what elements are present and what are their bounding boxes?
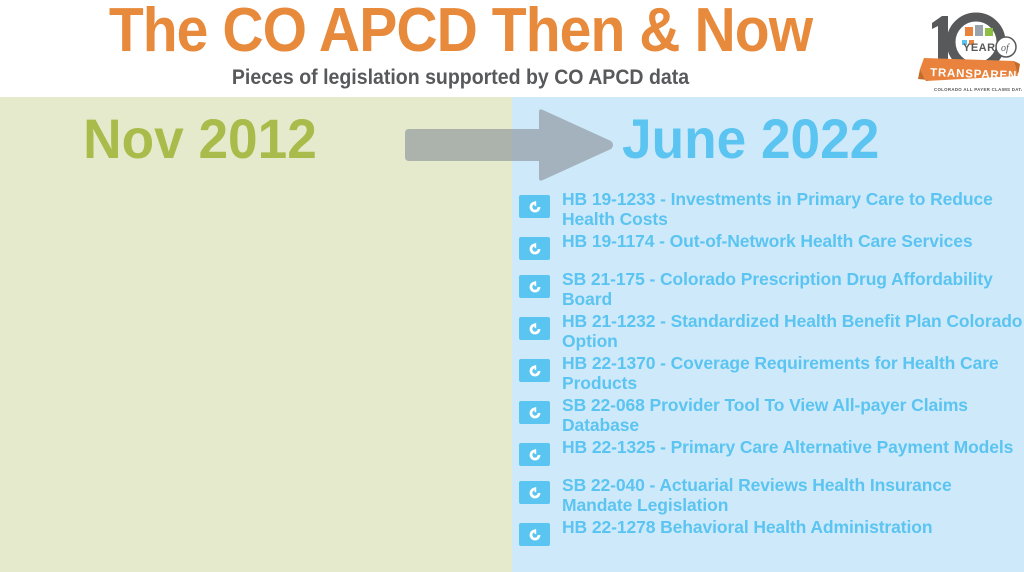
page-title: The CO APCD Then & Now xyxy=(44,0,877,64)
c-glyph-icon xyxy=(528,486,541,499)
co-apcd-logo-icon xyxy=(519,359,550,382)
co-apcd-logo-icon xyxy=(519,275,550,298)
co-apcd-logo-icon xyxy=(519,481,550,504)
list-item: SB 22-068 Provider Tool To View All-paye… xyxy=(519,396,1024,435)
svg-text:TRANSPARENCY: TRANSPARENCY xyxy=(930,67,1022,83)
legislation-item-text: SB 21-175 - Colorado Prescription Drug A… xyxy=(562,270,1024,309)
legislation-item-text: SB 22-068 Provider Tool To View All-paye… xyxy=(562,396,1024,435)
svg-text:COLORADO ALL PAYER CLAIMS DATA: COLORADO ALL PAYER CLAIMS DATABASE xyxy=(934,87,1022,92)
co-apcd-logo-icon xyxy=(519,401,550,424)
c-glyph-icon xyxy=(528,322,541,335)
c-glyph-icon xyxy=(528,242,541,255)
page-subtitle: Pieces of legislation supported by CO AP… xyxy=(40,66,882,90)
list-item: SB 21-175 - Colorado Prescription Drug A… xyxy=(519,270,1024,309)
svg-text:of: of xyxy=(1001,43,1010,54)
c-glyph-icon xyxy=(528,406,541,419)
then-date-label: Nov 2012 xyxy=(10,103,390,175)
ten-years-of-transparency-badge-icon: YEARS of TRANSPARENCY COLORADO ALL PAYER… xyxy=(916,1,1022,95)
list-item: HB 21-1232 - Standardized Health Benefit… xyxy=(519,312,1024,351)
legislation-list: HB 19-1233 - Investments in Primary Care… xyxy=(519,190,1024,556)
list-item: SB 22-040 - Actuarial Reviews Health Ins… xyxy=(519,476,1024,515)
legislation-item-text: HB 22-1325 - Primary Care Alternative Pa… xyxy=(562,438,1024,458)
infographic-canvas: The CO APCD Then & Now Pieces of legisla… xyxy=(0,0,1024,572)
legislation-item-text: HB 22-1278 Behavioral Health Administrat… xyxy=(562,518,1024,538)
co-apcd-logo-icon xyxy=(519,317,550,340)
co-apcd-logo-icon xyxy=(519,237,550,260)
c-glyph-icon xyxy=(528,200,541,213)
list-item: HB 19-1233 - Investments in Primary Care… xyxy=(519,190,1024,229)
list-item: HB 22-1370 - Coverage Requirements for H… xyxy=(519,354,1024,393)
co-apcd-logo-icon xyxy=(519,443,550,466)
list-item: HB 22-1325 - Primary Care Alternative Pa… xyxy=(519,438,1024,473)
c-glyph-icon xyxy=(528,528,541,541)
c-glyph-icon xyxy=(528,448,541,461)
legislation-item-text: HB 19-1233 - Investments in Primary Care… xyxy=(562,190,1024,229)
legislation-item-text: HB 21-1232 - Standardized Health Benefit… xyxy=(562,312,1024,351)
now-date-label: June 2022 xyxy=(622,103,1002,175)
legislation-item-text: HB 22-1370 - Coverage Requirements for H… xyxy=(562,354,1024,393)
legislation-item-text: HB 19-1174 - Out-of-Network Health Care … xyxy=(562,232,1024,252)
co-apcd-logo-icon xyxy=(519,523,550,546)
right-arrow-icon xyxy=(403,108,615,182)
c-glyph-icon xyxy=(528,364,541,377)
legislation-item-text: SB 22-040 - Actuarial Reviews Health Ins… xyxy=(562,476,1024,515)
list-item: HB 19-1174 - Out-of-Network Health Care … xyxy=(519,232,1024,267)
co-apcd-logo-icon xyxy=(519,195,550,218)
c-glyph-icon xyxy=(528,280,541,293)
header-banner: The CO APCD Then & Now Pieces of legisla… xyxy=(0,0,1024,97)
list-item: HB 22-1278 Behavioral Health Administrat… xyxy=(519,518,1024,553)
